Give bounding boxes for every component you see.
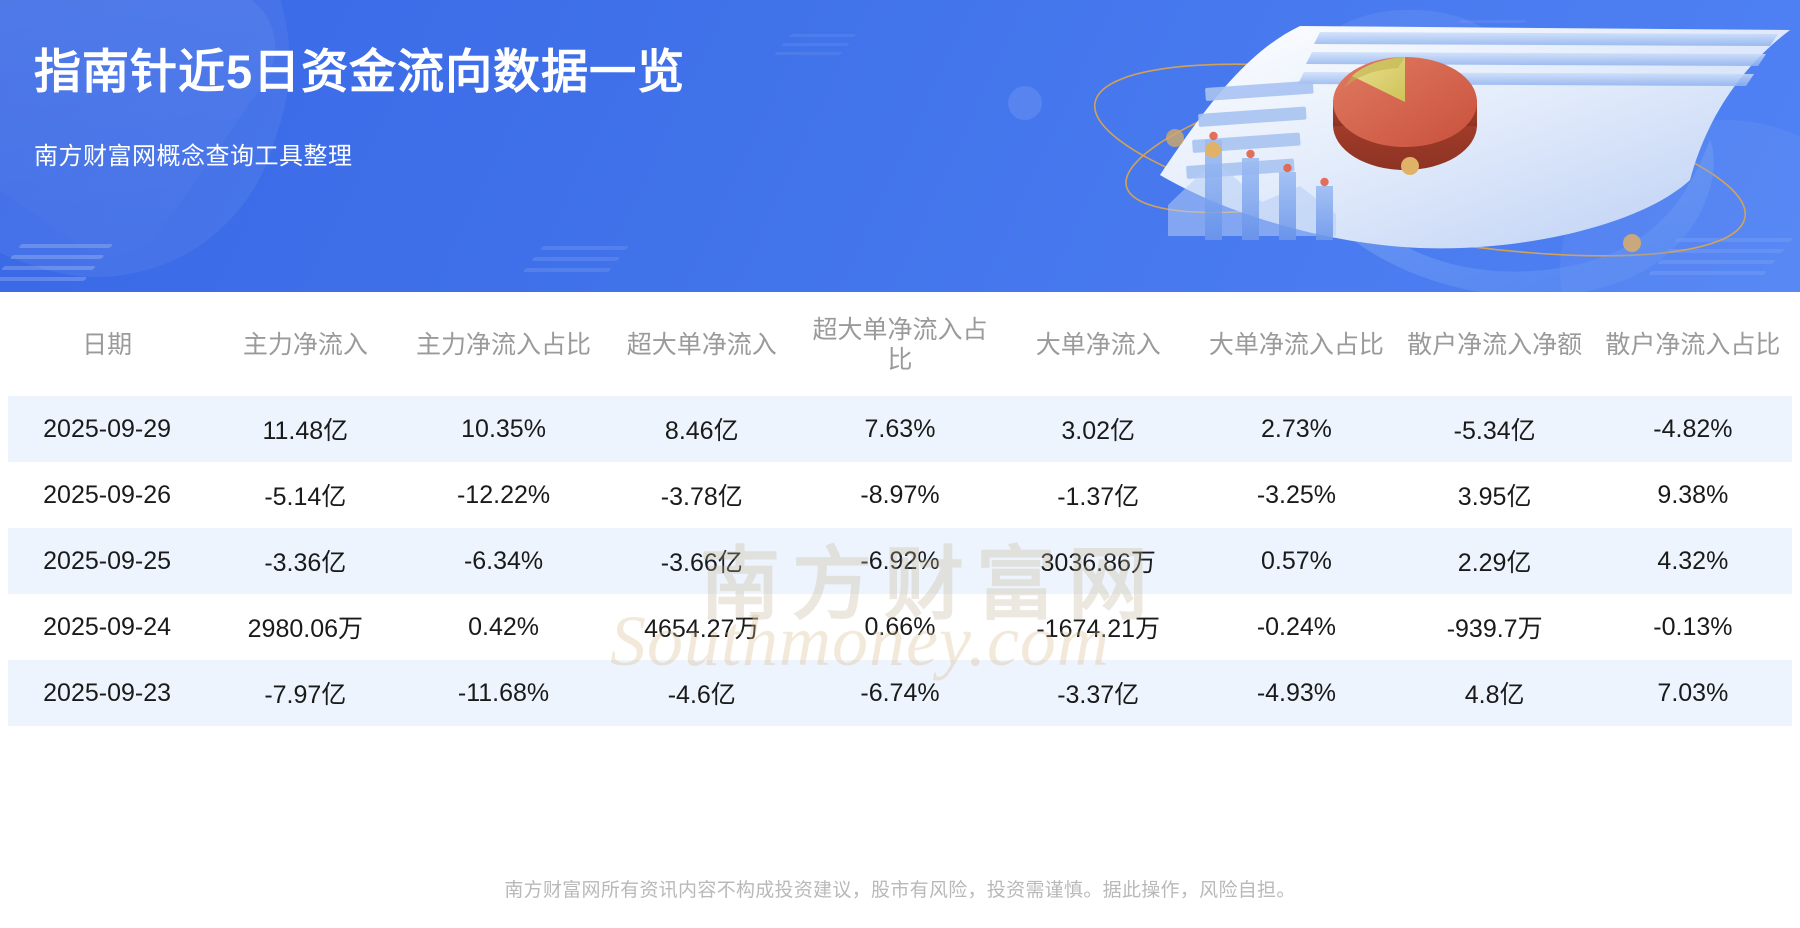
column-header-super-large-net-inflow: 超大单净流入	[603, 292, 801, 396]
cell-date: 2025-09-26	[8, 462, 206, 528]
cell-large-net-inflow-ratio: -0.24%	[1197, 594, 1395, 660]
cell-retail-net-inflow-ratio: 4.32%	[1594, 528, 1792, 594]
cell-main-net-inflow: 11.48亿	[206, 396, 404, 462]
cell-large-net-inflow-ratio: -3.25%	[1197, 462, 1395, 528]
cell-main-net-inflow-ratio: -12.22%	[404, 462, 602, 528]
column-header-retail-net-inflow-amount: 散户净流入净额	[1396, 292, 1594, 396]
cell-retail-net-inflow-ratio: 7.03%	[1594, 660, 1792, 726]
cell-super-large-net-inflow: -3.66亿	[603, 528, 801, 594]
cell-main-net-inflow-ratio: 10.35%	[404, 396, 602, 462]
page-banner: 指南针近5日资金流向数据一览 南方财富网概念查询工具整理	[0, 0, 1800, 292]
cell-large-net-inflow: 3.02亿	[999, 396, 1197, 462]
banner-text-block: 指南针近5日资金流向数据一览 南方财富网概念查询工具整理	[34, 44, 685, 171]
column-header-large-net-inflow-ratio: 大单净流入占比	[1197, 292, 1395, 396]
cell-main-net-inflow-ratio: -11.68%	[404, 660, 602, 726]
cell-super-large-net-inflow: 8.46亿	[603, 396, 801, 462]
cell-retail-net-inflow-amount: 3.95亿	[1396, 462, 1594, 528]
cell-main-net-inflow: -7.97亿	[206, 660, 404, 726]
fund-flow-table-container: 日期 主力净流入 主力净流入占比 超大单净流入 超大单净流入占比 大单净流入 大…	[0, 292, 1800, 726]
cell-large-net-inflow: 3036.86万	[999, 528, 1197, 594]
cell-super-large-net-inflow-ratio: -6.74%	[801, 660, 999, 726]
cell-retail-net-inflow-ratio: 9.38%	[1594, 462, 1792, 528]
banner-hatch-stripes-bottom-left	[0, 244, 117, 288]
table-row: 2025-09-24 2980.06万 0.42% 4654.27万 0.66%…	[8, 594, 1792, 660]
table-row: 2025-09-23 -7.97亿 -11.68% -4.6亿 -6.74% -…	[8, 660, 1792, 726]
cell-retail-net-inflow-amount: -5.34亿	[1396, 396, 1594, 462]
pie-chart-3d	[1333, 57, 1477, 170]
cell-main-net-inflow-ratio: -6.34%	[404, 528, 602, 594]
cell-date: 2025-09-25	[8, 528, 206, 594]
cell-large-net-inflow: -1674.21万	[999, 594, 1197, 660]
cell-date: 2025-09-24	[8, 594, 206, 660]
page-title: 指南针近5日资金流向数据一览	[34, 44, 685, 99]
disclaimer-text: 南方财富网所有资讯内容不构成投资建议，股市有风险，投资需谨慎。据此操作，风险自担…	[0, 875, 1800, 902]
cell-super-large-net-inflow: 4654.27万	[603, 594, 801, 660]
column-header-retail-net-inflow-ratio: 散户净流入占比	[1594, 292, 1792, 396]
column-header-main-net-inflow-ratio: 主力净流入占比	[404, 292, 602, 396]
column-header-date: 日期	[8, 292, 206, 396]
page-subtitle: 南方财富网概念查询工具整理	[34, 136, 685, 171]
cell-retail-net-inflow-ratio: -4.82%	[1594, 396, 1792, 462]
cell-super-large-net-inflow: -3.78亿	[603, 462, 801, 528]
cell-main-net-inflow: -3.36亿	[206, 528, 404, 594]
cell-retail-net-inflow-ratio: -0.13%	[1594, 594, 1792, 660]
column-header-large-net-inflow: 大单净流入	[999, 292, 1197, 396]
cell-large-net-inflow: -1.37亿	[999, 462, 1197, 528]
cell-super-large-net-inflow: -4.6亿	[603, 660, 801, 726]
page-root: 指南针近5日资金流向数据一览 南方财富网概念查询工具整理	[0, 0, 1800, 928]
cell-large-net-inflow: -3.37亿	[999, 660, 1197, 726]
column-header-main-net-inflow: 主力净流入	[206, 292, 404, 396]
banner-hatch-stripes-bottom-mid	[517, 246, 633, 279]
table-row: 2025-09-29 11.48亿 10.35% 8.46亿 7.63% 3.0…	[8, 396, 1792, 462]
cell-date: 2025-09-29	[8, 396, 206, 462]
cell-retail-net-inflow-amount: 4.8亿	[1396, 660, 1594, 726]
table-row: 2025-09-26 -5.14亿 -12.22% -3.78亿 -8.97% …	[8, 462, 1792, 528]
table-header: 日期 主力净流入 主力净流入占比 超大单净流入 超大单净流入占比 大单净流入 大…	[8, 292, 1792, 396]
cell-main-net-inflow-ratio: 0.42%	[404, 594, 602, 660]
cell-main-net-inflow: -5.14亿	[206, 462, 404, 528]
cell-main-net-inflow: 2980.06万	[206, 594, 404, 660]
cell-large-net-inflow-ratio: -4.93%	[1197, 660, 1395, 726]
banner-hatch-stripes-top-mid	[769, 34, 860, 61]
cell-super-large-net-inflow-ratio: 7.63%	[801, 396, 999, 462]
report-document-illustration	[1000, 0, 1800, 292]
table-body: 2025-09-29 11.48亿 10.35% 8.46亿 7.63% 3.0…	[8, 396, 1792, 726]
cell-large-net-inflow-ratio: 2.73%	[1197, 396, 1395, 462]
cell-super-large-net-inflow-ratio: -6.92%	[801, 528, 999, 594]
column-header-super-large-net-inflow-ratio: 超大单净流入占比	[801, 292, 999, 396]
cell-super-large-net-inflow-ratio: 0.66%	[801, 594, 999, 660]
cell-retail-net-inflow-amount: 2.29亿	[1396, 528, 1594, 594]
cell-retail-net-inflow-amount: -939.7万	[1396, 594, 1594, 660]
cell-date: 2025-09-23	[8, 660, 206, 726]
fund-flow-table: 日期 主力净流入 主力净流入占比 超大单净流入 超大单净流入占比 大单净流入 大…	[8, 292, 1792, 726]
cell-large-net-inflow-ratio: 0.57%	[1197, 528, 1395, 594]
table-row: 2025-09-25 -3.36亿 -6.34% -3.66亿 -6.92% 3…	[8, 528, 1792, 594]
table-header-row: 日期 主力净流入 主力净流入占比 超大单净流入 超大单净流入占比 大单净流入 大…	[8, 292, 1792, 396]
cell-super-large-net-inflow-ratio: -8.97%	[801, 462, 999, 528]
